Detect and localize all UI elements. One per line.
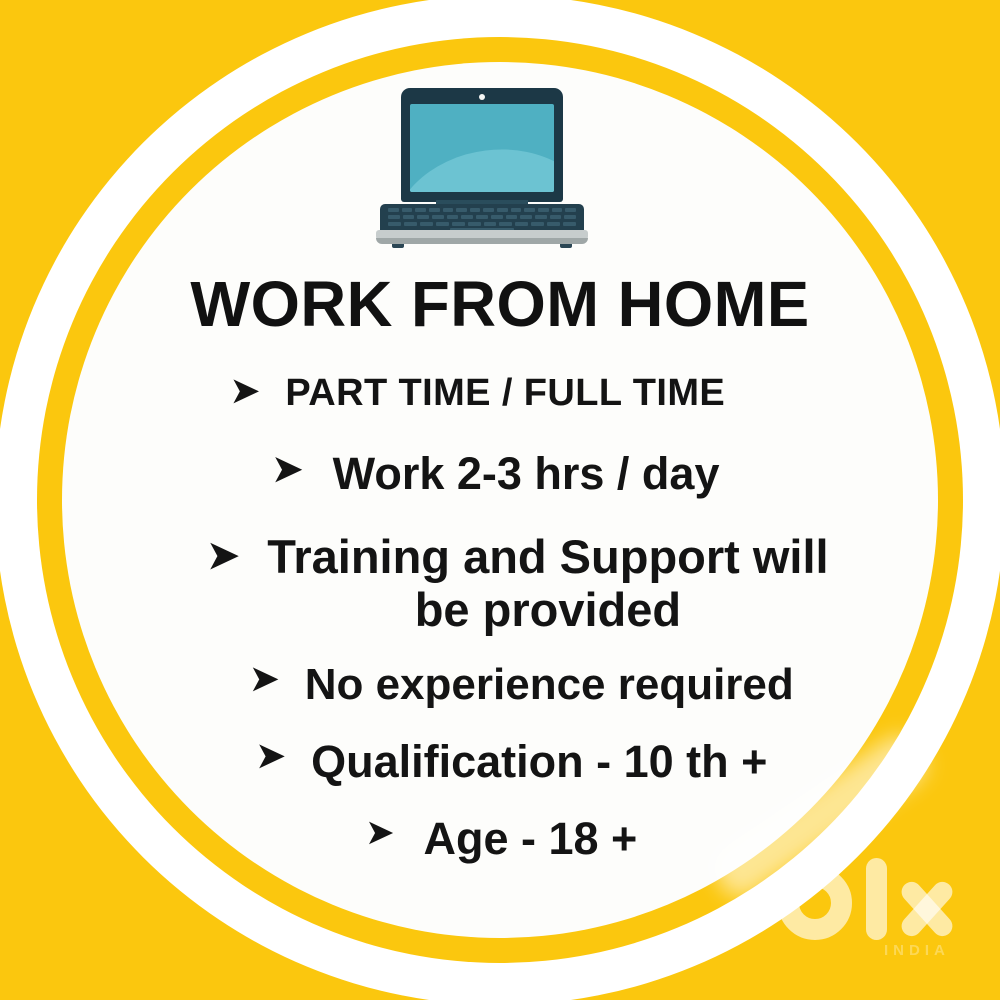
laptop-lid [401, 88, 563, 202]
olx-letter-o [778, 866, 852, 940]
laptop-keyboard [380, 204, 584, 233]
olx-watermark: INDIA [772, 856, 962, 966]
list-item-label: Age - 18 + [423, 814, 637, 864]
arrow-bullet-icon: ➤ [273, 451, 303, 487]
arrow-bullet-icon: ➤ [257, 739, 286, 773]
list-item: ➤ Work 2-3 hrs / day [0, 449, 996, 499]
list-item-label: Training and Support will be provided [267, 531, 828, 636]
laptop-screen-glare [410, 138, 554, 192]
arrow-bullet-icon: ➤ [250, 662, 279, 696]
list-item-label: Work 2-3 hrs / day [333, 449, 720, 499]
laptop-camera-icon [479, 94, 485, 100]
olx-letter-x [896, 878, 958, 940]
laptop-base-lip [376, 238, 588, 244]
list-item: ➤ PART TIME / FULL TIME [0, 372, 978, 415]
laptop-foot-right [560, 244, 572, 248]
list-item-label: Qualification - 10 th + [311, 737, 767, 787]
arrow-bullet-icon: ➤ [367, 816, 394, 848]
watermark-region-label: INDIA [884, 942, 950, 959]
page-title: WORK FROM HOME [5, 272, 995, 336]
list-item-label: PART TIME / FULL TIME [285, 372, 725, 415]
list-item: ➤ No experience required [22, 660, 1000, 709]
list-item: ➤ Training and Support will be provided [18, 531, 1000, 636]
poster-content: WORK FROM HOME ➤ PART TIME / FULL TIME ➤… [0, 0, 1000, 1000]
laptop-screen [410, 104, 554, 192]
olx-letter-l [866, 858, 887, 940]
arrow-bullet-icon: ➤ [231, 374, 260, 408]
laptop-foot-left [392, 244, 404, 248]
work-from-home-poster: WORK FROM HOME ➤ PART TIME / FULL TIME ➤… [0, 0, 1000, 1000]
arrow-bullet-icon: ➤ [207, 537, 239, 575]
list-item-label: No experience required [305, 660, 794, 709]
laptop-icon [376, 88, 588, 248]
